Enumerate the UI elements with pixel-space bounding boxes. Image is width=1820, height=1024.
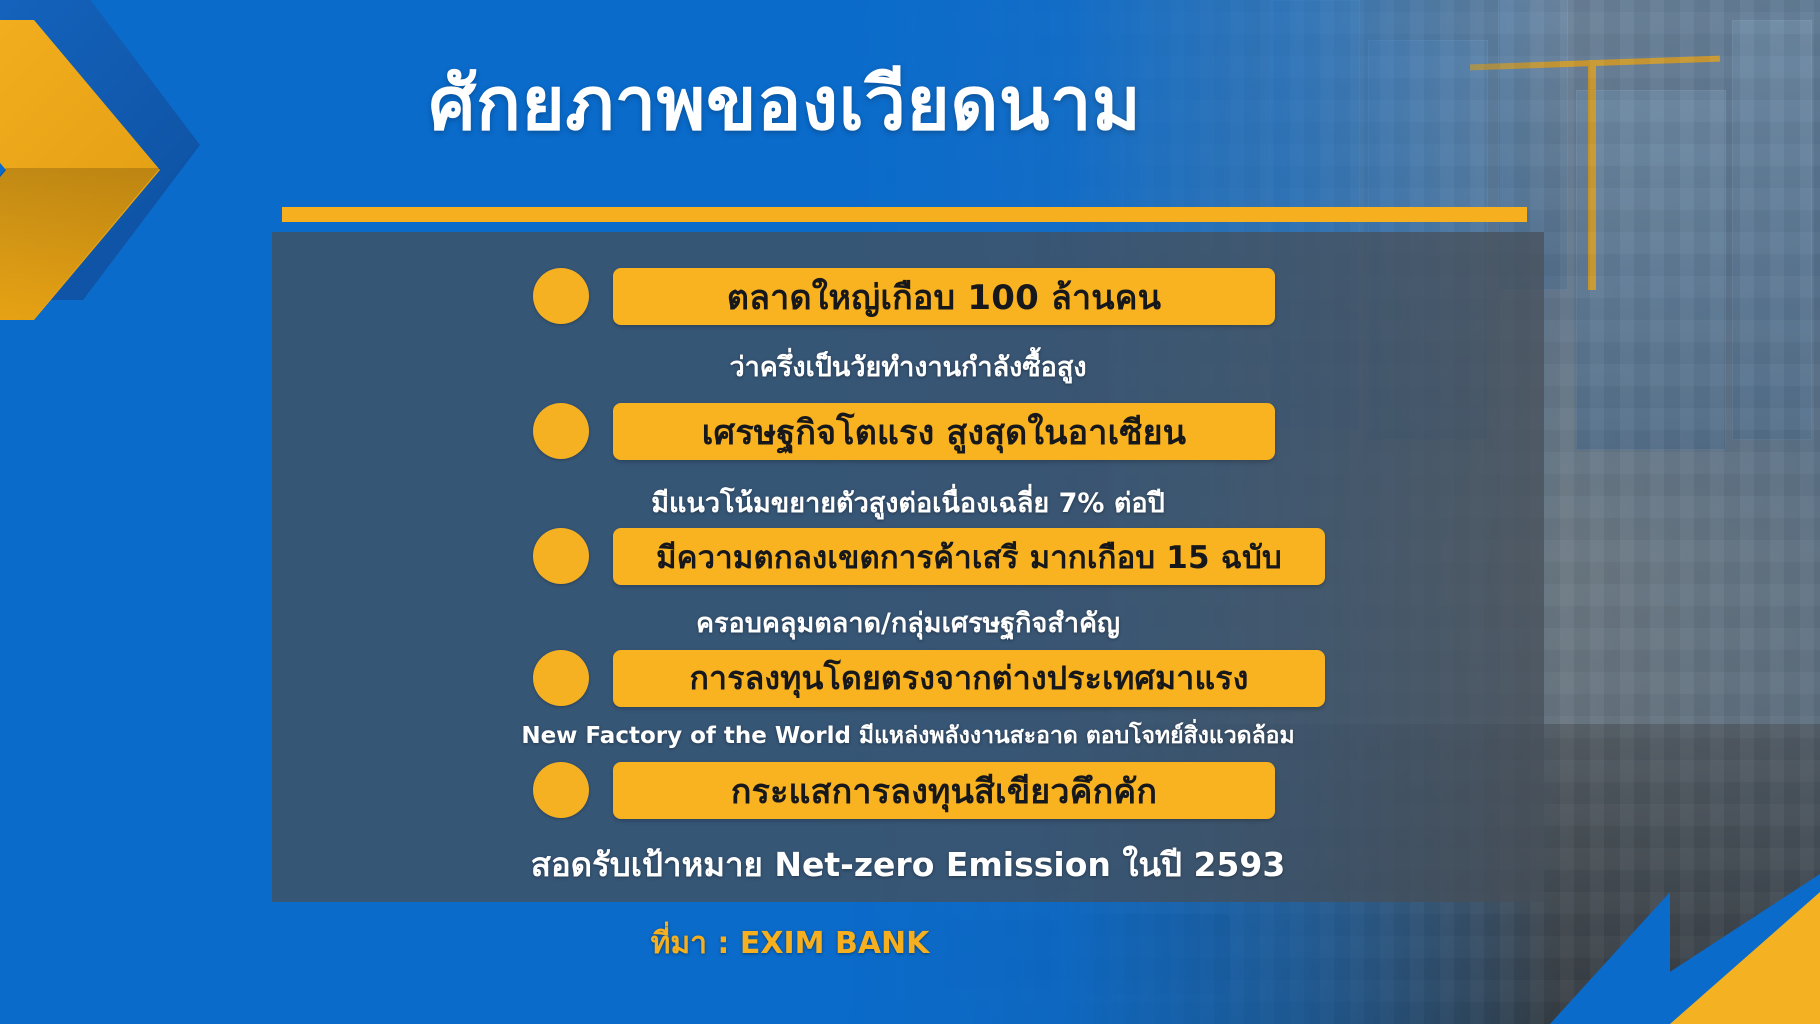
headline-pill-1: ตลาดใหญ่เกือบ 100 ล้านคน [613, 268, 1275, 325]
building-5 [1732, 20, 1812, 440]
infographic-slide: ศักยภาพของเวียดนาม ตลาดใหญ่เกือบ 100 ล้า… [0, 0, 1820, 1024]
building-4 [1576, 90, 1726, 450]
headline-pill-5: กระแสการลงทุนสีเขียวคึกคัก [613, 762, 1275, 819]
bullet-dot-3 [533, 528, 589, 584]
bullet-dot-1 [533, 268, 589, 324]
headline-pill-2: เศรษฐกิจโตแรง สูงสุดในอาเซียน [613, 403, 1275, 460]
subtext-3: ครอบคลุมตลาด/กลุ่มเศรษฐกิจสำคัญ [272, 601, 1544, 644]
subtext-4: New Factory of the World มีแหล่งพลังงานส… [272, 718, 1544, 754]
page-title: ศักยภาพของเวียดนาม [0, 62, 1570, 147]
bullet-dot-4 [533, 650, 589, 706]
bullet-dot-2 [533, 403, 589, 459]
headline-pill-4: การลงทุนโดยตรงจากต่างประเทศมาแรง [613, 650, 1325, 707]
title-underline [282, 207, 1527, 222]
bullet-dot-5 [533, 762, 589, 818]
subtext-2: มีแนวโน้มขยายตัวสูงต่อเนื่องเฉลี่ย 7% ต่… [272, 481, 1544, 524]
headline-pill-3: มีความตกลงเขตการค้าเสรี มากเกือบ 15 ฉบับ [613, 528, 1325, 585]
subtext-1: ว่าครึ่งเป็นวัยทำงานกำลังซื้อสูง [272, 345, 1544, 388]
source-credit: ที่มา : EXIM BANK [0, 920, 1580, 967]
crane-mast [1588, 60, 1596, 290]
subtext-5: สอดรับเป้าหมาย Net-zero Emission ในปี 25… [272, 838, 1544, 891]
